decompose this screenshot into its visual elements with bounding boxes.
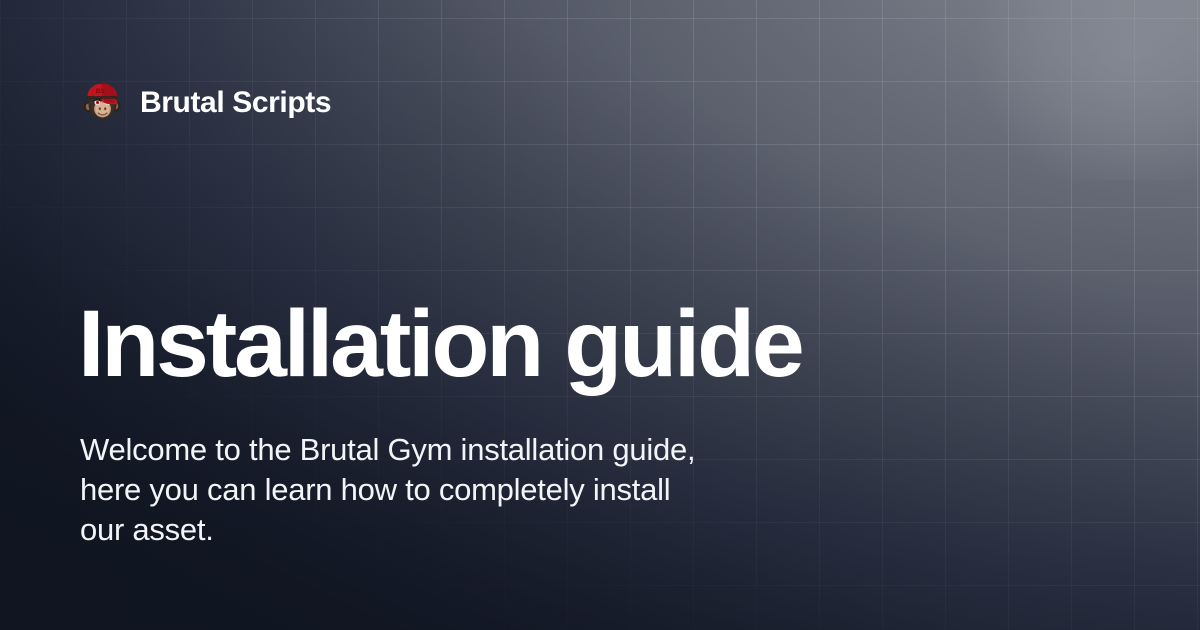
page-description-line-1: Welcome to the Brutal Gym installation g… [80, 430, 880, 470]
logo-cap-monogram: BS [96, 88, 106, 95]
page-description: Welcome to the Brutal Gym installation g… [80, 430, 880, 550]
page-title: Installation guide [78, 297, 802, 392]
card-content: BS Brutal Scripts Installation guide Wel… [0, 0, 1200, 630]
brand-name-label: Brutal Scripts [140, 88, 331, 118]
page-description-line-2: here you can learn how to completely ins… [80, 470, 880, 510]
og-banner-card: BS Brutal Scripts Installation guide Wel… [0, 0, 1200, 630]
page-description-line-3: our asset. [80, 510, 880, 550]
brand-lockup[interactable]: BS Brutal Scripts [78, 79, 331, 127]
monkey-cap-logo-icon: BS [78, 79, 126, 127]
